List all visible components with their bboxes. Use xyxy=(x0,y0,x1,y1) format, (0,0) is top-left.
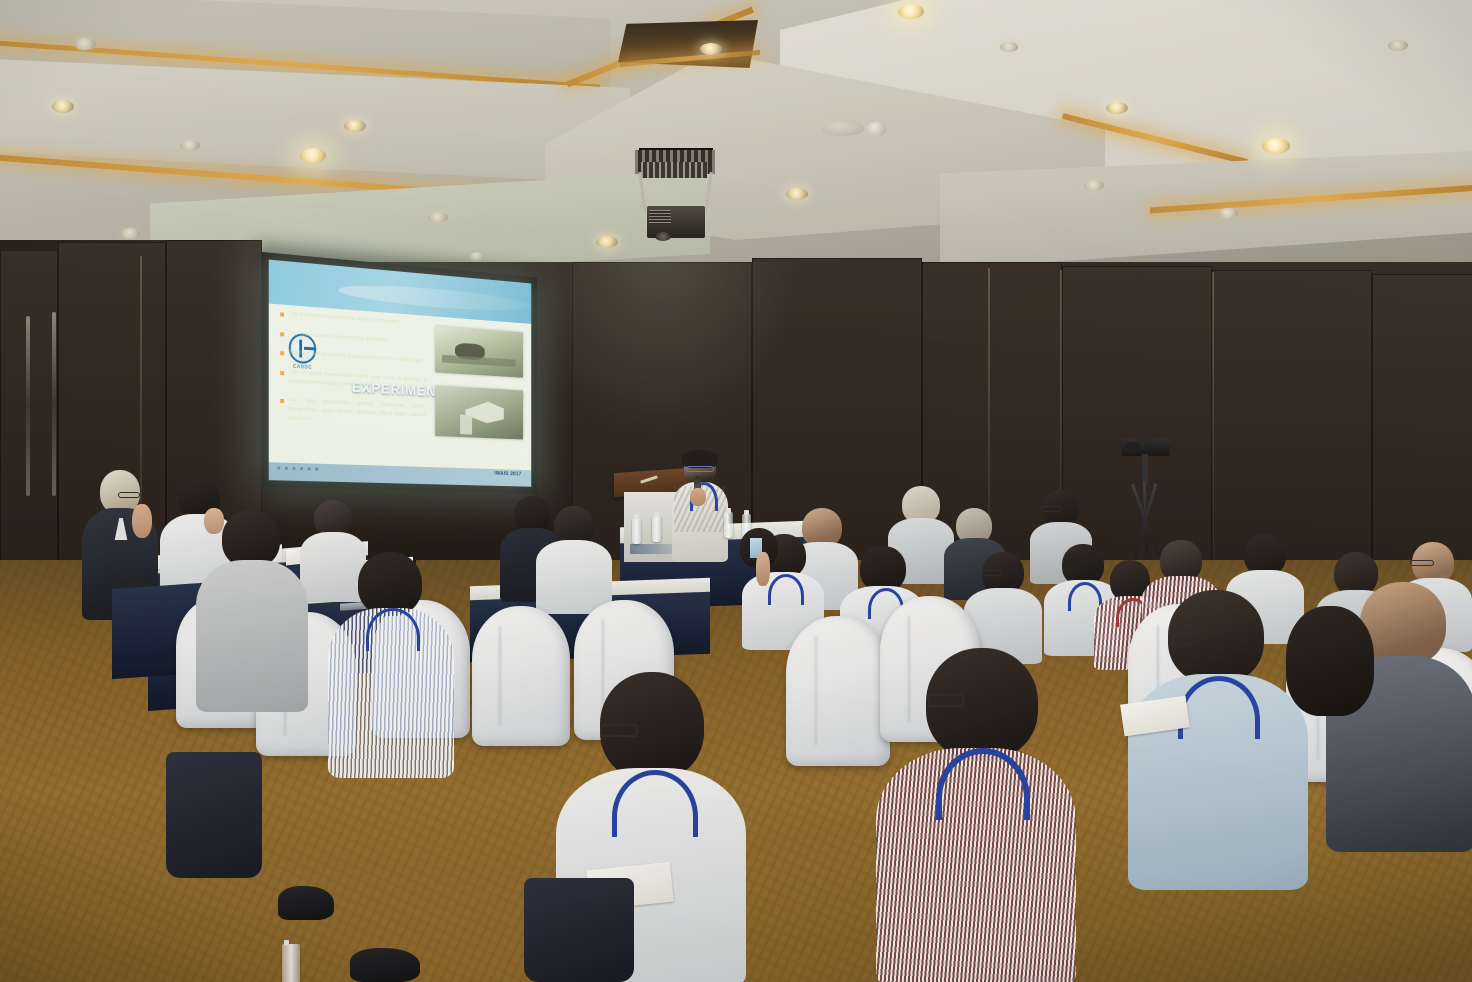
wall-trim-strip xyxy=(1212,272,1214,564)
conference-bag[interactable] xyxy=(166,752,262,878)
chair-crease xyxy=(815,637,817,745)
bullet-marker-icon xyxy=(280,399,284,403)
bullet-text: The high-speed camera is used to record … xyxy=(289,349,424,366)
bullet-marker-icon xyxy=(280,312,284,316)
slide-photo-wind-tunnel xyxy=(435,326,523,378)
attendee-foreground xyxy=(876,648,1076,982)
slide-footer-dots xyxy=(277,466,318,470)
glasses-icon xyxy=(1410,560,1434,566)
slide-body: The wind tunnel provides an icing enviro… xyxy=(269,304,531,471)
bullet-text: The constant temperature water was used … xyxy=(289,368,426,393)
bullet-text: The rotary power is provided by the moto… xyxy=(289,329,389,344)
chair-cover xyxy=(786,616,890,766)
banquet-chair[interactable] xyxy=(786,616,890,766)
shoe xyxy=(278,886,334,920)
glasses-icon xyxy=(928,694,964,707)
glasses-icon xyxy=(686,466,714,472)
hand-holding-mic xyxy=(690,488,706,506)
glasses-icon xyxy=(600,724,638,737)
attendee-foreground xyxy=(1270,606,1390,836)
door-handle[interactable] xyxy=(52,312,56,496)
water-bottle xyxy=(652,516,661,542)
camera-lens-icon xyxy=(1126,442,1140,453)
recessed-downlight xyxy=(1084,180,1104,191)
photo-mount xyxy=(460,415,471,435)
glasses-icon xyxy=(1040,506,1062,512)
recessed-downlight xyxy=(898,4,924,19)
slide-bullet: The rotary power is provided by the moto… xyxy=(280,329,426,348)
recessed-downlight xyxy=(596,236,618,248)
slide-bullet: The high-speed camera is used to record … xyxy=(280,348,426,366)
hand-on-chin xyxy=(132,504,152,538)
photo-surface xyxy=(442,355,516,367)
wall-panel xyxy=(1372,274,1472,582)
ceiling-projector xyxy=(625,148,721,248)
projector-vent xyxy=(649,210,671,224)
presenter xyxy=(672,452,728,562)
recessed-downlight xyxy=(180,140,200,151)
recessed-downlight xyxy=(700,43,722,55)
conference-room-photo: CARDC EXPERIMENTAL METHOD The wind tunne… xyxy=(0,0,1472,982)
glasses-icon xyxy=(978,570,1002,576)
camera-viewfinder xyxy=(1138,434,1154,442)
bullet-text: The wind tunnel provides an icing enviro… xyxy=(289,310,401,327)
conference-bag[interactable] xyxy=(524,878,634,982)
slide-bullet: The constant temperature water was used … xyxy=(280,368,426,393)
recessed-downlight xyxy=(428,212,448,223)
door-handle[interactable] xyxy=(26,316,30,496)
recessed-downlight xyxy=(74,38,96,50)
bullet-text: The test parameters include rotational s… xyxy=(289,397,426,429)
head xyxy=(1286,606,1374,716)
smoke-detector-icon xyxy=(866,122,886,136)
attendee-foreground xyxy=(328,552,454,776)
attendee-foreground xyxy=(196,510,308,710)
recessed-downlight xyxy=(300,148,326,163)
shoe xyxy=(350,948,420,982)
slide-bullet-list: The wind tunnel provides an icing enviro… xyxy=(280,309,426,438)
screen-frame: CARDC EXPERIMENTAL METHOD The wind tunne… xyxy=(262,252,537,493)
slide-bullet: The test parameters include rotational s… xyxy=(280,396,426,428)
recessed-downlight xyxy=(1106,102,1128,114)
screen-spill-light xyxy=(520,262,800,442)
recessed-downlight xyxy=(1388,40,1408,51)
attendee xyxy=(536,506,612,610)
head xyxy=(358,552,422,616)
bullet-marker-icon xyxy=(280,371,284,375)
torso xyxy=(196,560,308,712)
raised-arm xyxy=(756,552,770,586)
projection-screen: CARDC EXPERIMENTAL METHOD The wind tunne… xyxy=(262,252,537,493)
tripod-neck xyxy=(1142,454,1148,484)
recessed-downlight xyxy=(1218,208,1238,219)
chair-crease xyxy=(499,626,501,727)
recessed-downlight xyxy=(120,228,140,239)
bullet-marker-icon xyxy=(280,332,284,336)
projector-lens-icon xyxy=(655,232,671,241)
recessed-downlight xyxy=(786,188,808,200)
glasses-icon xyxy=(1168,634,1200,644)
projector-lift-frame-lower xyxy=(641,162,707,178)
glasses-icon xyxy=(118,492,140,498)
slide-photo-icing-model xyxy=(435,386,523,439)
water-bottle[interactable] xyxy=(282,944,300,982)
recessed-downlight xyxy=(1000,42,1018,52)
smoke-detector-icon xyxy=(470,252,484,262)
recessed-downlight xyxy=(1262,138,1290,154)
slide-surface: CARDC EXPERIMENTAL METHOD The wind tunne… xyxy=(269,260,531,487)
water-bottle xyxy=(632,518,641,544)
lectern-logo xyxy=(630,544,674,554)
recessed-downlight xyxy=(52,100,74,113)
slide-footer-stamp: IWAIS 2017 xyxy=(494,471,521,477)
air-diffuser-icon xyxy=(822,120,864,136)
bullet-marker-icon xyxy=(280,351,284,355)
recessed-downlight xyxy=(344,120,366,132)
